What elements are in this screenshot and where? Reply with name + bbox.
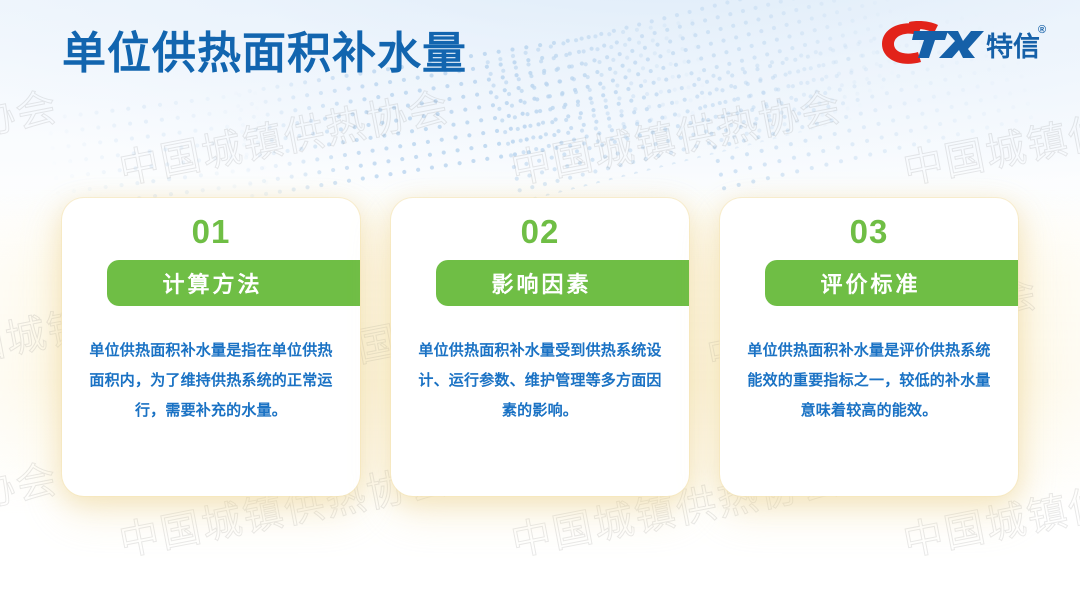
svg-text:®: ®	[1038, 24, 1046, 36]
card-banner: 计算方法	[107, 260, 360, 306]
card-banner-label: 评价标准	[820, 267, 920, 299]
info-card-1[interactable]: 01 计算方法 单位供热面积补水量是指在单位供热面积内，为了维持供热系统的正常运…	[62, 198, 360, 496]
card-number: 01	[62, 214, 360, 250]
card-row: 01 计算方法 单位供热面积补水量是指在单位供热面积内，为了维持供热系统的正常运…	[0, 198, 1080, 498]
page-title: 单位供热面积补水量	[62, 32, 467, 76]
card-banner-label: 影响因素	[491, 267, 591, 299]
card-body-text: 单位供热面积补水量是评价供热系统能效的重要指标之一，较低的补水量意味着较高的能效…	[742, 336, 996, 426]
company-logo: 特信 ®	[878, 16, 1054, 70]
card-number: 02	[391, 214, 689, 250]
card-banner: 评价标准	[765, 260, 1018, 306]
halftone-dots-decoration	[40, 84, 280, 211]
card-banner-label: 计算方法	[162, 267, 262, 299]
info-card-2[interactable]: 02 影响因素 单位供热面积补水量受到供热系统设计、运行参数、维护管理等多方面因…	[391, 198, 689, 496]
slide-header: 单位供热面积补水量 特信 ®	[0, 0, 1080, 96]
info-card-3[interactable]: 03 评价标准 单位供热面积补水量是评价供热系统能效的重要指标之一，较低的补水量…	[720, 198, 1018, 496]
svg-text:特信: 特信	[986, 32, 1040, 62]
card-body-text: 单位供热面积补水量是指在单位供热面积内，为了维持供热系统的正常运行，需要补充的水…	[84, 336, 338, 426]
card-banner: 影响因素	[436, 260, 689, 306]
card-number: 03	[720, 214, 1018, 250]
slide-canvas: 单位供热面积补水量 特信 ® 01 计算方法 单	[0, 0, 1080, 608]
card-body-text: 单位供热面积补水量受到供热系统设计、运行参数、维护管理等多方面因素的影响。	[413, 336, 667, 426]
